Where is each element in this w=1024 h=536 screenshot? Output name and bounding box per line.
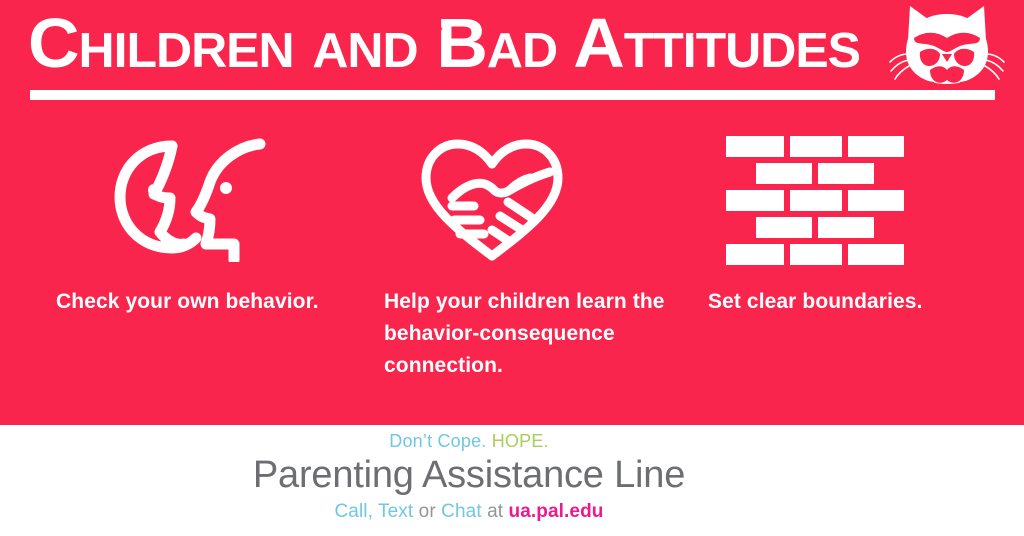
contact-url[interactable]: ua.pal.edu <box>509 501 604 522</box>
contact-preposition: at <box>487 501 503 522</box>
brick <box>790 136 842 157</box>
tagline-hope: HOPE. <box>492 431 549 451</box>
two-face-profiles-icon <box>110 132 270 262</box>
tip-card-clear-boundaries: Set clear boundaries. <box>706 118 1024 418</box>
brick <box>848 136 904 157</box>
tips-row: Check your own behavior. <box>0 118 1024 418</box>
brick <box>818 163 874 184</box>
contact-conjunction: or <box>419 501 436 522</box>
tip-card-check-behavior: Check your own behavior. <box>0 118 346 418</box>
footer-tagline: Don’t Cope. HOPE. <box>0 431 1024 452</box>
poster-header: Children and Bad Attitudes <box>0 0 1024 112</box>
infographic-poster: Children and Bad Attitudes <box>0 0 1024 536</box>
brick <box>818 217 874 238</box>
brick <box>848 244 904 265</box>
footer-content: Don’t Cope. HOPE. Parenting Assistance L… <box>0 425 1024 536</box>
tip-card-behavior-consequence: Help your children learn the behavior-co… <box>346 118 706 418</box>
organization-name: Parenting Assistance Line <box>0 454 1024 497</box>
brick <box>756 163 812 184</box>
tip-label: Help your children learn the behavior-co… <box>384 286 696 382</box>
footer-contact-line: Call, Text or Chat at ua.pal.edu <box>0 501 1024 523</box>
title-underline-rule <box>30 90 995 100</box>
heart-handshake-icon <box>412 132 572 262</box>
page-title: Children and Bad Attitudes <box>28 4 905 84</box>
grumpy-cat-face-icon <box>888 2 1006 94</box>
brick <box>848 190 904 211</box>
brick <box>790 190 842 211</box>
tip-label: Set clear boundaries. <box>708 286 1008 318</box>
poster-footer: Don’t Cope. HOPE. Parenting Assistance L… <box>0 425 1024 536</box>
contact-channel-chat: Chat <box>441 501 482 522</box>
brick <box>726 190 784 211</box>
tip-label: Check your own behavior. <box>56 286 356 318</box>
brick <box>726 136 784 157</box>
brick <box>790 244 842 265</box>
tagline-dont-cope: Don’t Cope. <box>389 431 486 451</box>
brick <box>726 244 784 265</box>
contact-channels-call-text: Call, Text <box>334 501 413 522</box>
brick <box>756 217 812 238</box>
brick-wall-pattern <box>724 132 906 262</box>
brick-wall-icon <box>724 132 906 262</box>
